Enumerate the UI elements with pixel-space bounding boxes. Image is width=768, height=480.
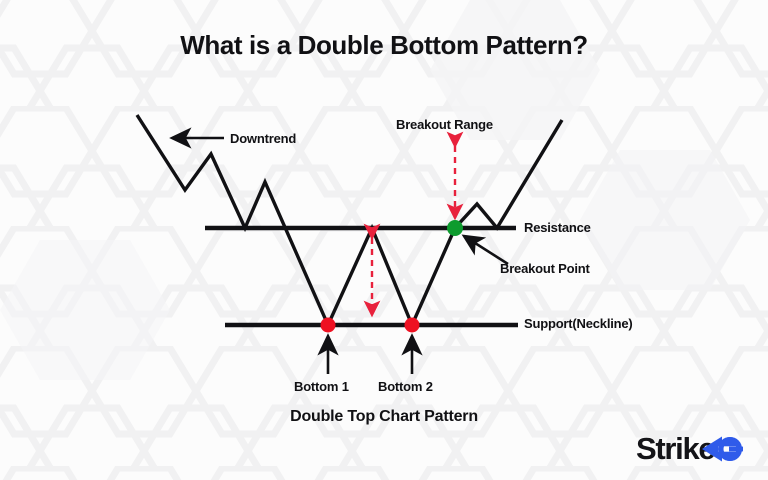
bottom-2-marker	[405, 318, 420, 333]
strike-chevron-icon	[698, 436, 744, 462]
label-resistance: Resistance	[524, 220, 591, 235]
label-bottom-1: Bottom 1	[294, 379, 349, 394]
breakout-point-marker	[447, 220, 463, 236]
label-breakout-range: Breakout Range	[396, 117, 493, 132]
strike-logo: Strike	[636, 428, 752, 472]
infographic-canvas: What is a Double Bottom Pattern? Downtre…	[0, 0, 768, 480]
bottom-1-marker	[321, 318, 336, 333]
label-breakout-point: Breakout Point	[500, 261, 590, 276]
label-support-neckline: Support(Neckline)	[524, 316, 633, 331]
label-bottom-2: Bottom 2	[378, 379, 433, 394]
page-title: What is a Double Bottom Pattern?	[0, 30, 768, 61]
chart-caption: Double Top Chart Pattern	[0, 408, 768, 426]
label-downtrend: Downtrend	[230, 131, 296, 146]
breakout-point-pointer-arrow	[464, 236, 508, 264]
price-line-path	[137, 115, 562, 325]
